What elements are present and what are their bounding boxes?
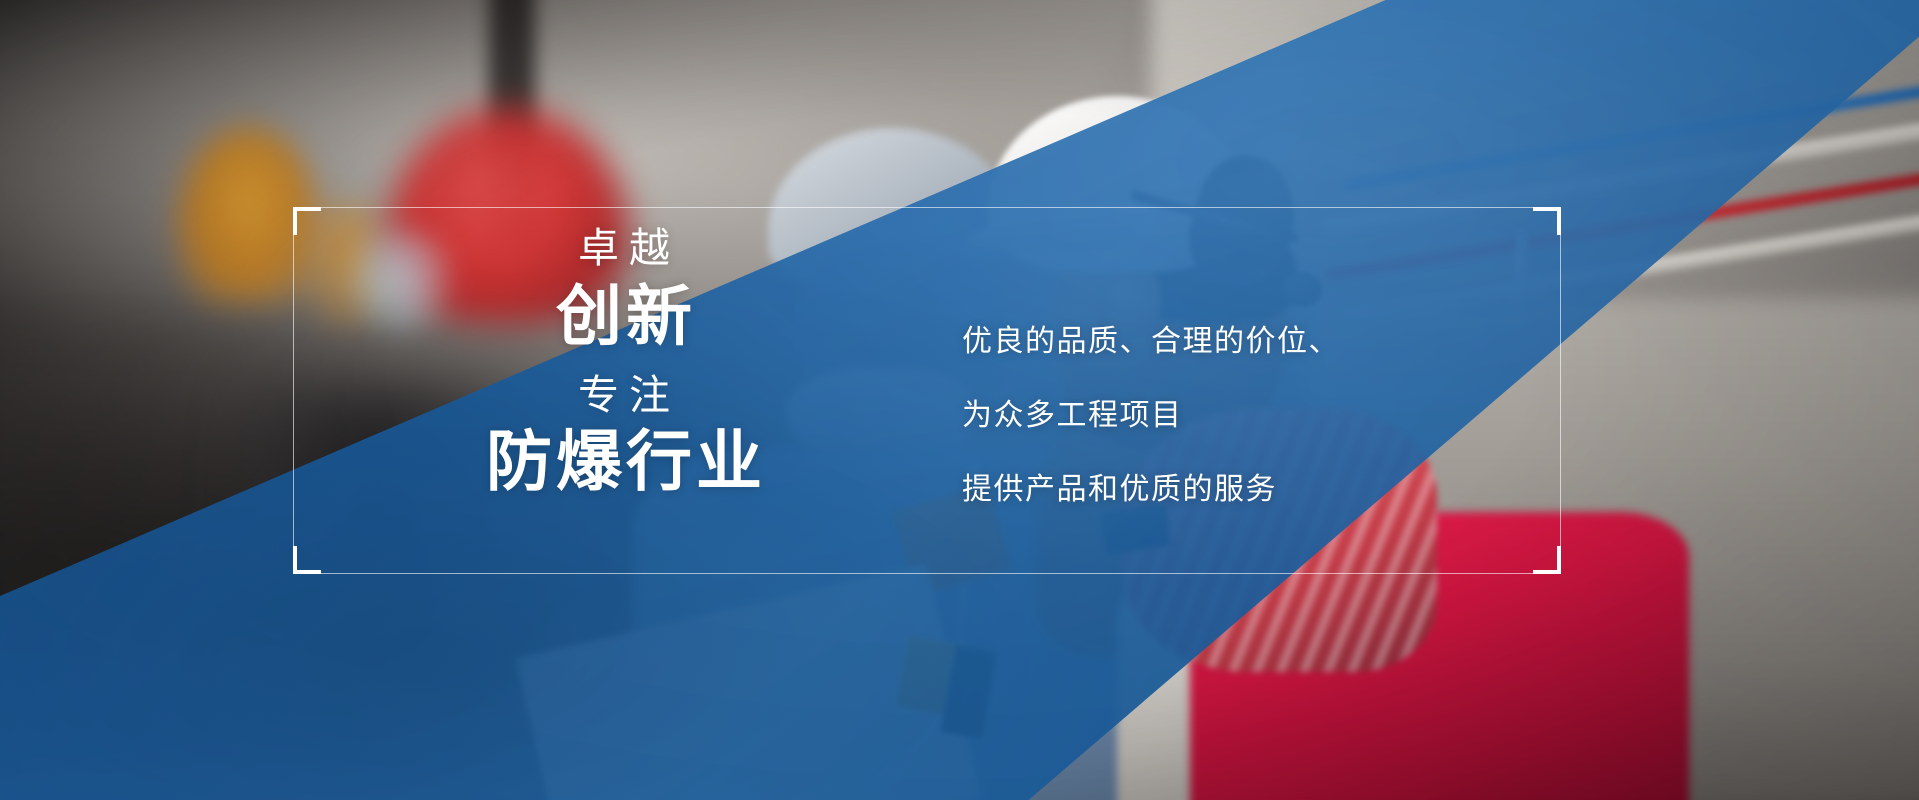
headline-block: 卓越 创新 专注 防爆行业 bbox=[449, 228, 799, 494]
subtext-block: 优良的品质、合理的价位、 为众多工程项目 提供产品和优质的服务 bbox=[962, 316, 1340, 508]
hero-banner: 卓越 创新 专注 防爆行业 优良的品质、合理的价位、 为众多工程项目 提供产品和… bbox=[0, 0, 1919, 800]
subtext-line-3: 提供产品和优质的服务 bbox=[962, 464, 1340, 508]
headline-line-4: 防爆行业 bbox=[449, 428, 799, 494]
headline-line-1: 卓越 bbox=[449, 228, 799, 269]
subtext-line-1: 优良的品质、合理的价位、 bbox=[962, 316, 1340, 360]
subtext-line-2: 为众多工程项目 bbox=[962, 390, 1340, 434]
headline-line-2: 创新 bbox=[449, 283, 799, 349]
headline-line-3: 专注 bbox=[449, 375, 799, 416]
